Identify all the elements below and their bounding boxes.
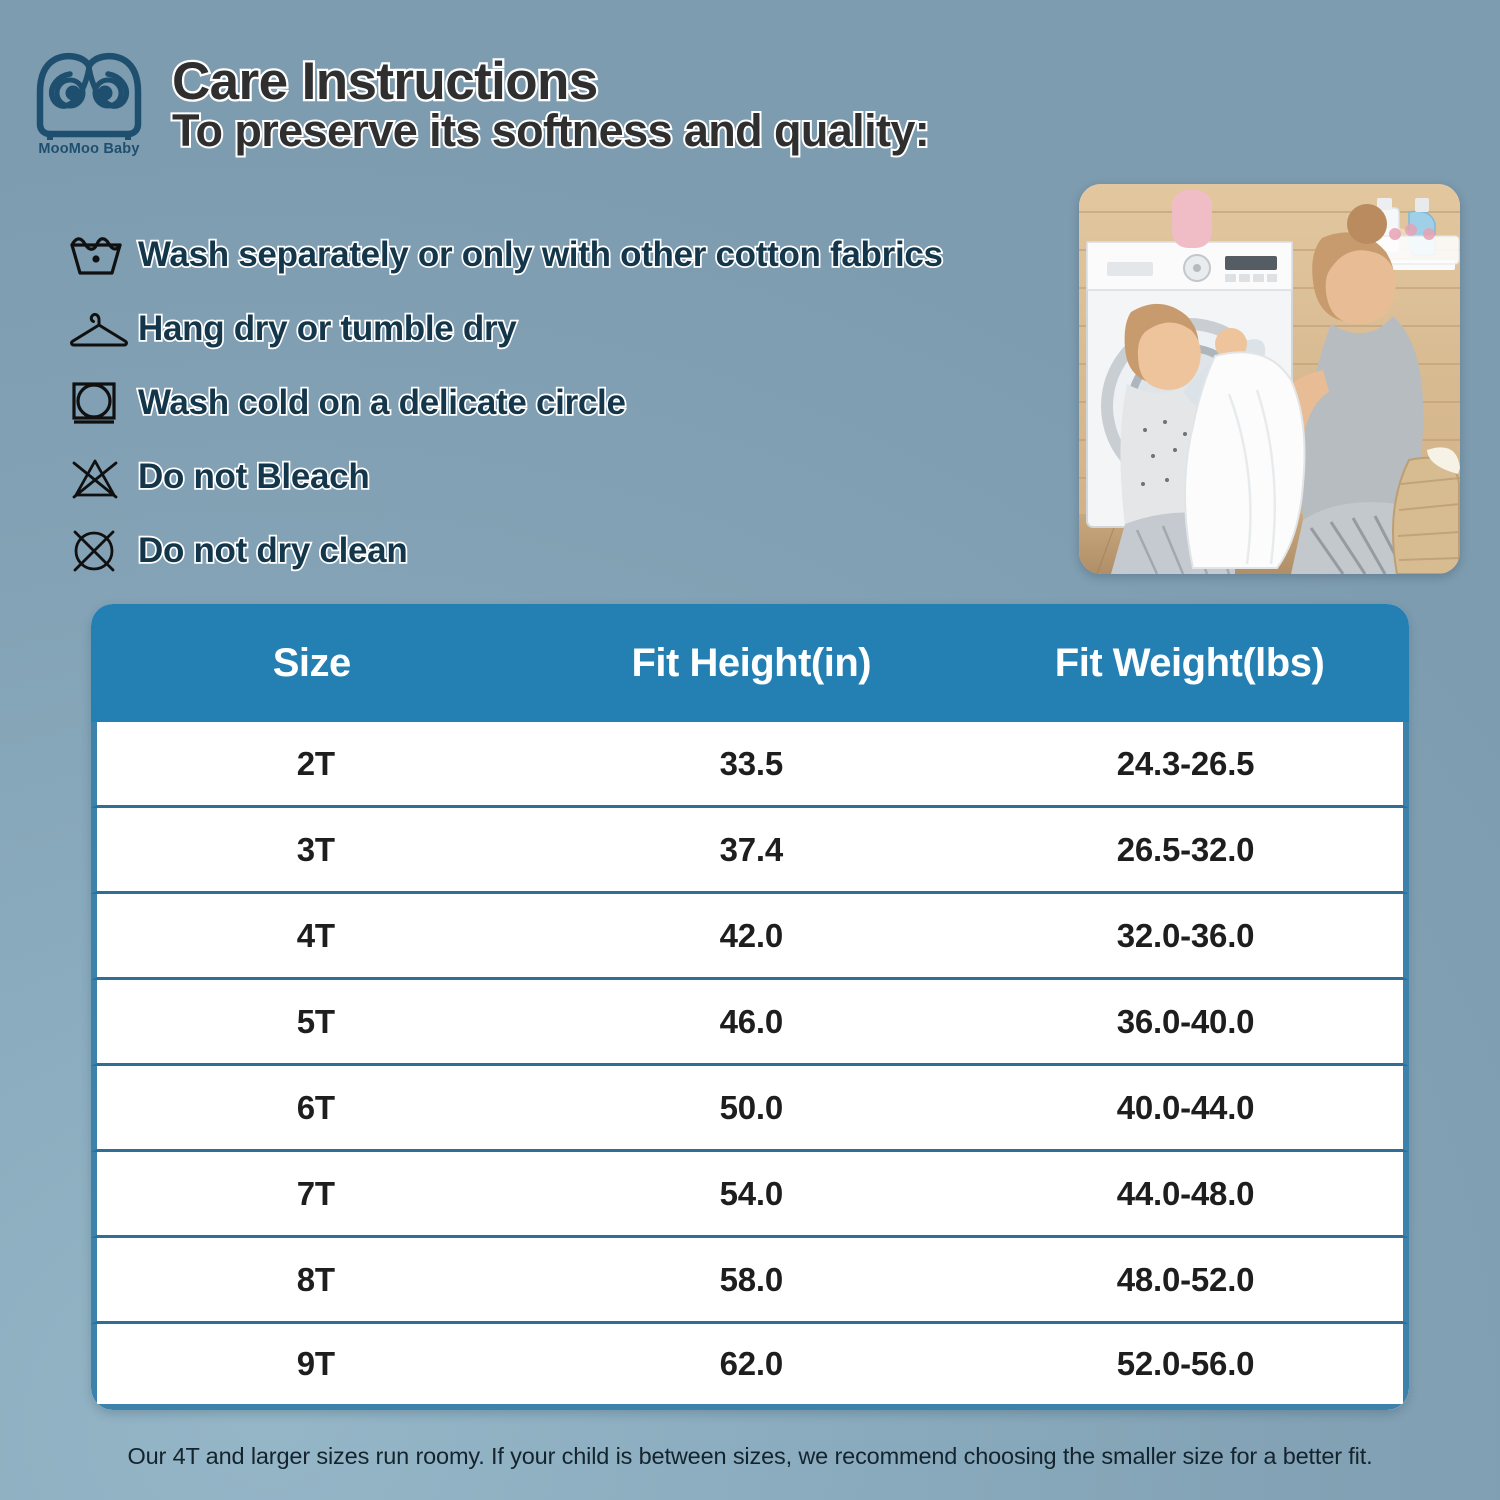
care-row: Do not Bleach	[60, 440, 1070, 514]
cell-weight: 24.3-26.5	[968, 745, 1403, 783]
table-row: 2T 33.5 24.3-26.5	[91, 722, 1409, 808]
care-instruction-list: Wash separately or only with other cotto…	[60, 218, 1070, 588]
sizing-footnote: Our 4T and larger sizes run roomy. If yo…	[0, 1443, 1500, 1470]
column-header-weight: Fit Weight(lbs)	[970, 641, 1409, 686]
table-header-row: Size Fit Height(in) Fit Weight(lbs)	[91, 604, 1409, 722]
delicate-cycle-icon	[60, 375, 138, 431]
cell-height: 33.5	[535, 745, 969, 783]
care-row: Hang dry or tumble dry	[60, 292, 1070, 366]
cell-size: 6T	[97, 1089, 535, 1127]
care-instructions-page: MooMoo Baby Care Instructions To preserv…	[0, 0, 1500, 1500]
column-header-size: Size	[91, 641, 533, 686]
table-body: 2T 33.5 24.3-26.5 3T 37.4 26.5-32.0 4T 4…	[91, 722, 1409, 1410]
owl-logo-icon	[26, 52, 152, 140]
cell-height: 62.0	[535, 1345, 969, 1383]
table-row: 3T 37.4 26.5-32.0	[91, 808, 1409, 894]
title-block: Care Instructions To preserve its softne…	[172, 54, 929, 156]
cell-size: 4T	[97, 917, 535, 955]
table-row: 6T 50.0 40.0-44.0	[91, 1066, 1409, 1152]
cell-size: 3T	[97, 831, 535, 869]
care-text: Wash cold on a delicate circle	[138, 383, 626, 423]
no-bleach-icon	[60, 449, 138, 505]
cell-weight: 48.0-52.0	[968, 1261, 1403, 1299]
cell-weight: 40.0-44.0	[968, 1089, 1403, 1127]
brand-logo: MooMoo Baby	[26, 52, 152, 157]
care-text: Do not Bleach	[138, 457, 369, 497]
cell-size: 5T	[97, 1003, 535, 1041]
care-row: Do not dry clean	[60, 514, 1070, 588]
size-chart-table: Size Fit Height(in) Fit Weight(lbs) 2T 3…	[91, 604, 1409, 1410]
cell-height: 42.0	[535, 917, 969, 955]
care-row: Wash cold on a delicate circle	[60, 366, 1070, 440]
clothes-hanger-icon	[60, 301, 138, 357]
page-header: MooMoo Baby Care Instructions To preserv…	[0, 0, 1500, 190]
care-row: Wash separately or only with other cotto…	[60, 218, 1070, 292]
wash-tub-icon	[60, 227, 138, 283]
table-row: 5T 46.0 36.0-40.0	[91, 980, 1409, 1066]
laundry-photo	[1079, 184, 1460, 574]
cell-weight: 44.0-48.0	[968, 1175, 1403, 1213]
cell-height: 46.0	[535, 1003, 969, 1041]
cell-size: 8T	[97, 1261, 535, 1299]
care-text: Wash separately or only with other cotto…	[138, 235, 943, 275]
page-subtitle: To preserve its softness and quality:	[172, 107, 929, 156]
cell-height: 54.0	[535, 1175, 969, 1213]
table-row: 4T 42.0 32.0-36.0	[91, 894, 1409, 980]
care-text: Hang dry or tumble dry	[138, 309, 516, 349]
cell-height: 58.0	[535, 1261, 969, 1299]
column-header-height: Fit Height(in)	[533, 641, 971, 686]
cell-weight: 26.5-32.0	[968, 831, 1403, 869]
cell-size: 2T	[97, 745, 535, 783]
cell-height: 50.0	[535, 1089, 969, 1127]
cell-size: 7T	[97, 1175, 535, 1213]
brand-name: MooMoo Baby	[26, 141, 152, 157]
page-title: Care Instructions	[172, 54, 929, 109]
cell-height: 37.4	[535, 831, 969, 869]
table-row: 9T 62.0 52.0-56.0	[91, 1324, 1409, 1410]
cell-weight: 32.0-36.0	[968, 917, 1403, 955]
cell-size: 9T	[97, 1345, 535, 1383]
table-row: 7T 54.0 44.0-48.0	[91, 1152, 1409, 1238]
no-dry-clean-icon	[60, 523, 138, 579]
cell-weight: 52.0-56.0	[968, 1345, 1403, 1383]
table-row: 8T 58.0 48.0-52.0	[91, 1238, 1409, 1324]
care-text: Do not dry clean	[138, 531, 407, 571]
cell-weight: 36.0-40.0	[968, 1003, 1403, 1041]
